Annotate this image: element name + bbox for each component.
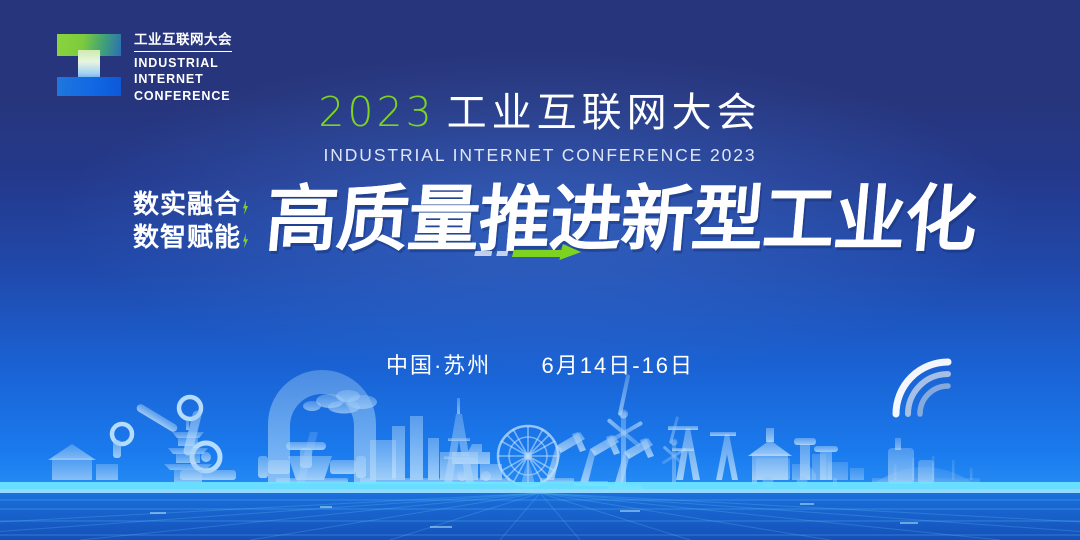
conference-banner: 工业互联网大会 INDUSTRIAL INTERNET CONFERENCE 2… [0,0,1080,540]
factory-smokestacks-icon [360,416,510,484]
event-title: 2023工业互联网大会 [0,92,1080,133]
slogan-line-1: 数实融合 [133,189,241,219]
horizon-glow-line [0,482,1080,489]
event-subtitle-english: INDUSTRIAL INTERNET CONFERENCE 2023 [0,145,1080,166]
logo-en-line-2: INTERNET [134,71,232,88]
logo-chinese-name: 工业互联网大会 [134,32,232,52]
ferris-wheel-icon [498,426,558,486]
event-title-chinese: 工业互联网大会 [447,91,762,135]
logo-en-line-1: INDUSTRIAL [134,55,232,72]
forward-arrow-icon [511,244,589,261]
slogan-line-2: 数智赋能 [133,222,241,252]
secondary-slogan: 数实融合 数智赋能 [133,188,249,255]
lightning-bolt-icon [242,233,249,248]
logo-t-mark-icon [55,28,123,96]
exhibition-hall-icon [48,444,118,480]
main-headline: 高质量推进新型工业化 [262,178,979,263]
event-title-block: 2023工业互联网大会 INDUSTRIAL INTERNET CONFEREN… [0,92,1080,166]
event-year: 2023 [318,88,434,136]
lightning-bolt-icon [242,200,249,215]
wind-turbine-icon [605,374,643,484]
headline-block: 数实融合 数智赋能 高质量推进新型工业化 [0,182,1080,292]
industrial-city-skyline [0,360,1080,540]
perspective-grid-floor [0,493,1080,540]
